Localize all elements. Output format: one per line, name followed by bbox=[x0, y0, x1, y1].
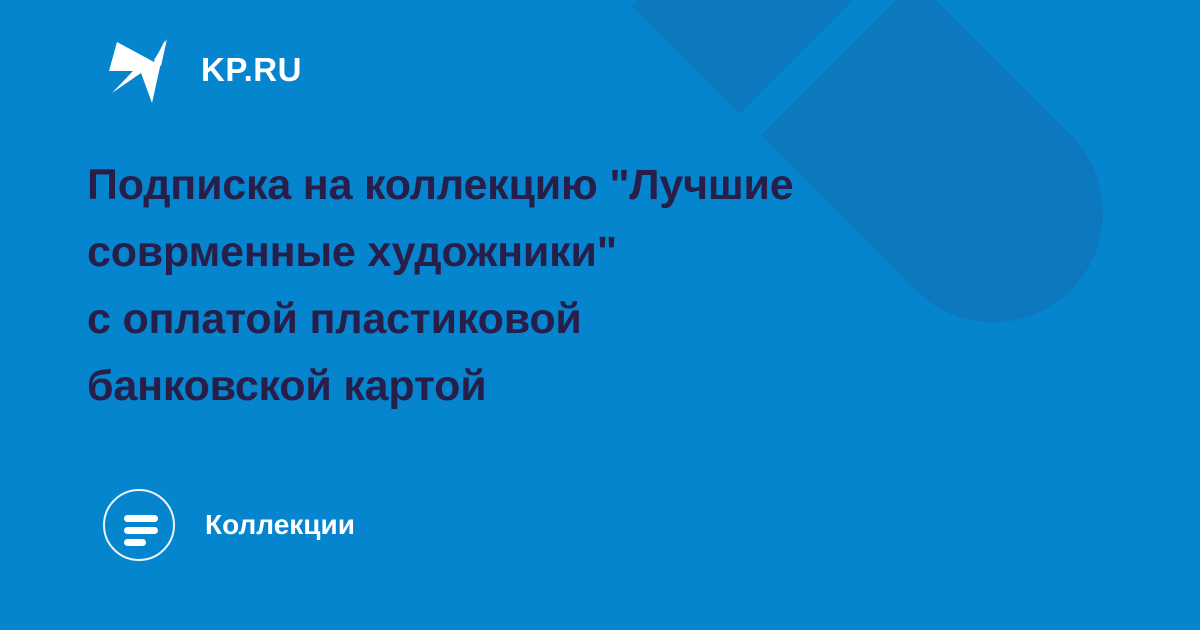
list-lines-icon bbox=[103, 489, 175, 561]
category-badge[interactable]: Коллекции bbox=[103, 489, 355, 561]
brand-name: KP.RU bbox=[201, 53, 302, 86]
list-line-1 bbox=[124, 515, 158, 522]
headline-line-1: Подписка на коллекцию "Лучшие bbox=[87, 152, 1097, 219]
brand-row[interactable]: KP.RU bbox=[107, 33, 302, 105]
headline-line-2: соврменные художники" bbox=[87, 219, 1097, 286]
list-line-3 bbox=[124, 539, 146, 546]
list-line-2 bbox=[124, 527, 158, 534]
kp-swallow-bird-logo-icon bbox=[107, 33, 179, 105]
page-title: Подписка на коллекцию "Лучшие соврменные… bbox=[87, 152, 1097, 420]
headline-line-4: банковской картой bbox=[87, 353, 1097, 420]
headline-line-3: с оплатой пластиковой bbox=[87, 286, 1097, 353]
share-card: KP.RU Подписка на коллекцию "Лучшие совр… bbox=[0, 0, 1200, 630]
category-badge-label: Коллекции bbox=[205, 511, 355, 539]
